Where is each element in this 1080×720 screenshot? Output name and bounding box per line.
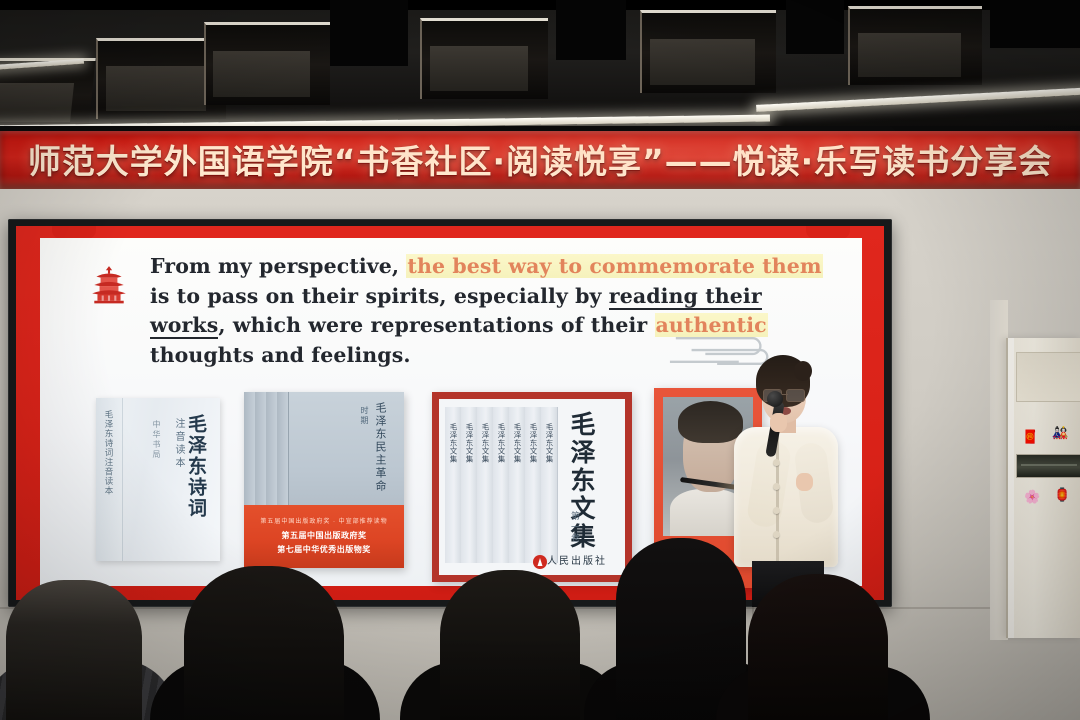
book-subtitle: 注音读本 (171, 418, 186, 470)
book-mao-poetry: 毛泽东诗词注音读本 毛泽东诗词 注音读本 中华书局 (96, 398, 220, 561)
works-inner-panel: 毛泽东文集 毛泽东文集 毛泽东文集 毛泽东文集 毛泽东文集 毛泽东文集 毛泽东文… (439, 399, 625, 575)
ceiling-beam (990, 0, 1080, 48)
award-band-caption: 第五届中国出版政府奖 · 中宣部推荐读物 (244, 516, 404, 525)
ceiling-light-panel (848, 6, 982, 85)
student-presenter (726, 355, 846, 607)
book-mao-collected-works: 毛泽东文集 毛泽东文集 毛泽东文集 毛泽东文集 毛泽东文集 毛泽东文集 毛泽东文… (432, 392, 632, 582)
works-spine-label: 毛泽东文集 (512, 423, 523, 463)
ceiling-light-panel (0, 58, 96, 129)
works-spine-label: 毛泽东文集 (496, 423, 507, 463)
works-spine-label: 毛泽东文集 (480, 423, 491, 463)
text-plain-2: is to pass on their spirits, especially … (150, 284, 609, 308)
pagoda-icon (88, 264, 130, 306)
decor-sticker: 🏮 (1054, 488, 1070, 501)
cabinet-edge-highlight (1008, 338, 1014, 638)
ceiling-beam (786, 0, 844, 54)
works-spine-label: 毛泽东文集 (448, 423, 459, 463)
presenter-hair-bun (794, 361, 812, 381)
cardigan-button (773, 507, 780, 514)
cabinet-vent (1016, 454, 1080, 478)
publisher-logo-icon (533, 555, 547, 569)
presentation-room-photo: 师范大学外国语学院“书香社区·阅读悦享”——悦读·乐写读书分享会 🧧 🎎 🌸 🏮 (0, 0, 1080, 720)
presenter-hand (796, 473, 813, 491)
event-banner-text: 师范大学外国语学院“书香社区·阅读悦享”——悦读·乐写读书分享会 (0, 135, 1080, 183)
boxset-subtitle: 时期 (359, 406, 370, 426)
works-spine-label: 毛泽东文集 (528, 423, 539, 463)
audience-silhouette-head (6, 580, 142, 720)
ceiling (0, 0, 1080, 132)
audience-silhouette-head (748, 574, 888, 720)
ceiling-light-panel (640, 10, 776, 93)
audience-silhouette-head (440, 570, 580, 720)
text-plain-3: , which were representations of their (218, 313, 654, 337)
ceiling-light-panel (204, 22, 330, 105)
audience-silhouette-head (184, 566, 344, 720)
book-spine-title: 毛泽东诗词注音读本 (102, 410, 114, 496)
works-spine-label: 毛泽东文集 (464, 423, 475, 463)
book-title: 毛泽东诗词 (183, 414, 210, 519)
decor-sticker: 🎎 (1052, 426, 1068, 439)
cardigan-button (773, 483, 780, 490)
text-plain-1: From my perspective, (150, 254, 406, 278)
air-conditioner-cabinet: 🧧 🎎 🌸 🏮 (1006, 338, 1080, 638)
ceiling-led-strip (756, 87, 1080, 112)
highlight-phrase-1: the best way to commemorate them (406, 254, 822, 278)
award-line-2: 第七届中华优秀出版物奖 (244, 544, 404, 555)
boxset-title: 毛泽东民主革命 (372, 402, 388, 493)
ceiling-beam (330, 0, 408, 66)
decor-sticker: 🧧 (1022, 430, 1038, 443)
book-author: 中华书局 (151, 420, 162, 460)
ceiling-light-panel (420, 18, 548, 99)
cabinet-top-panel (1016, 352, 1080, 402)
works-spine-label: 毛泽东文集 (544, 423, 555, 463)
text-plain-4: thoughts and feelings. (150, 343, 411, 367)
microphone-head-icon (767, 391, 783, 407)
cardigan-button (773, 531, 780, 538)
works-volume: 第一卷 (568, 511, 581, 544)
banner-glow (0, 175, 1080, 189)
cardigan-button (773, 459, 780, 466)
award-line-1: 第五届中国出版政府奖 (244, 530, 404, 541)
cardigan-placket (776, 435, 779, 563)
ceiling-beam (556, 0, 626, 60)
book-mao-boxset: 毛泽东民主革命 时期 第五届中国出版政府奖 · 中宣部推荐读物 第五届中国出版政… (244, 392, 404, 568)
works-publisher: 人民出版社 (547, 552, 607, 567)
boxset-award-band: 第五届中国出版政府奖 · 中宣部推荐读物 第五届中国出版政府奖 第七届中华优秀出… (244, 505, 404, 568)
event-banner: 师范大学外国语学院“书香社区·阅读悦享”——悦读·乐写读书分享会 (0, 131, 1080, 189)
presenter-hand-holding-mic (770, 413, 787, 432)
decor-sticker: 🌸 (1024, 490, 1040, 503)
